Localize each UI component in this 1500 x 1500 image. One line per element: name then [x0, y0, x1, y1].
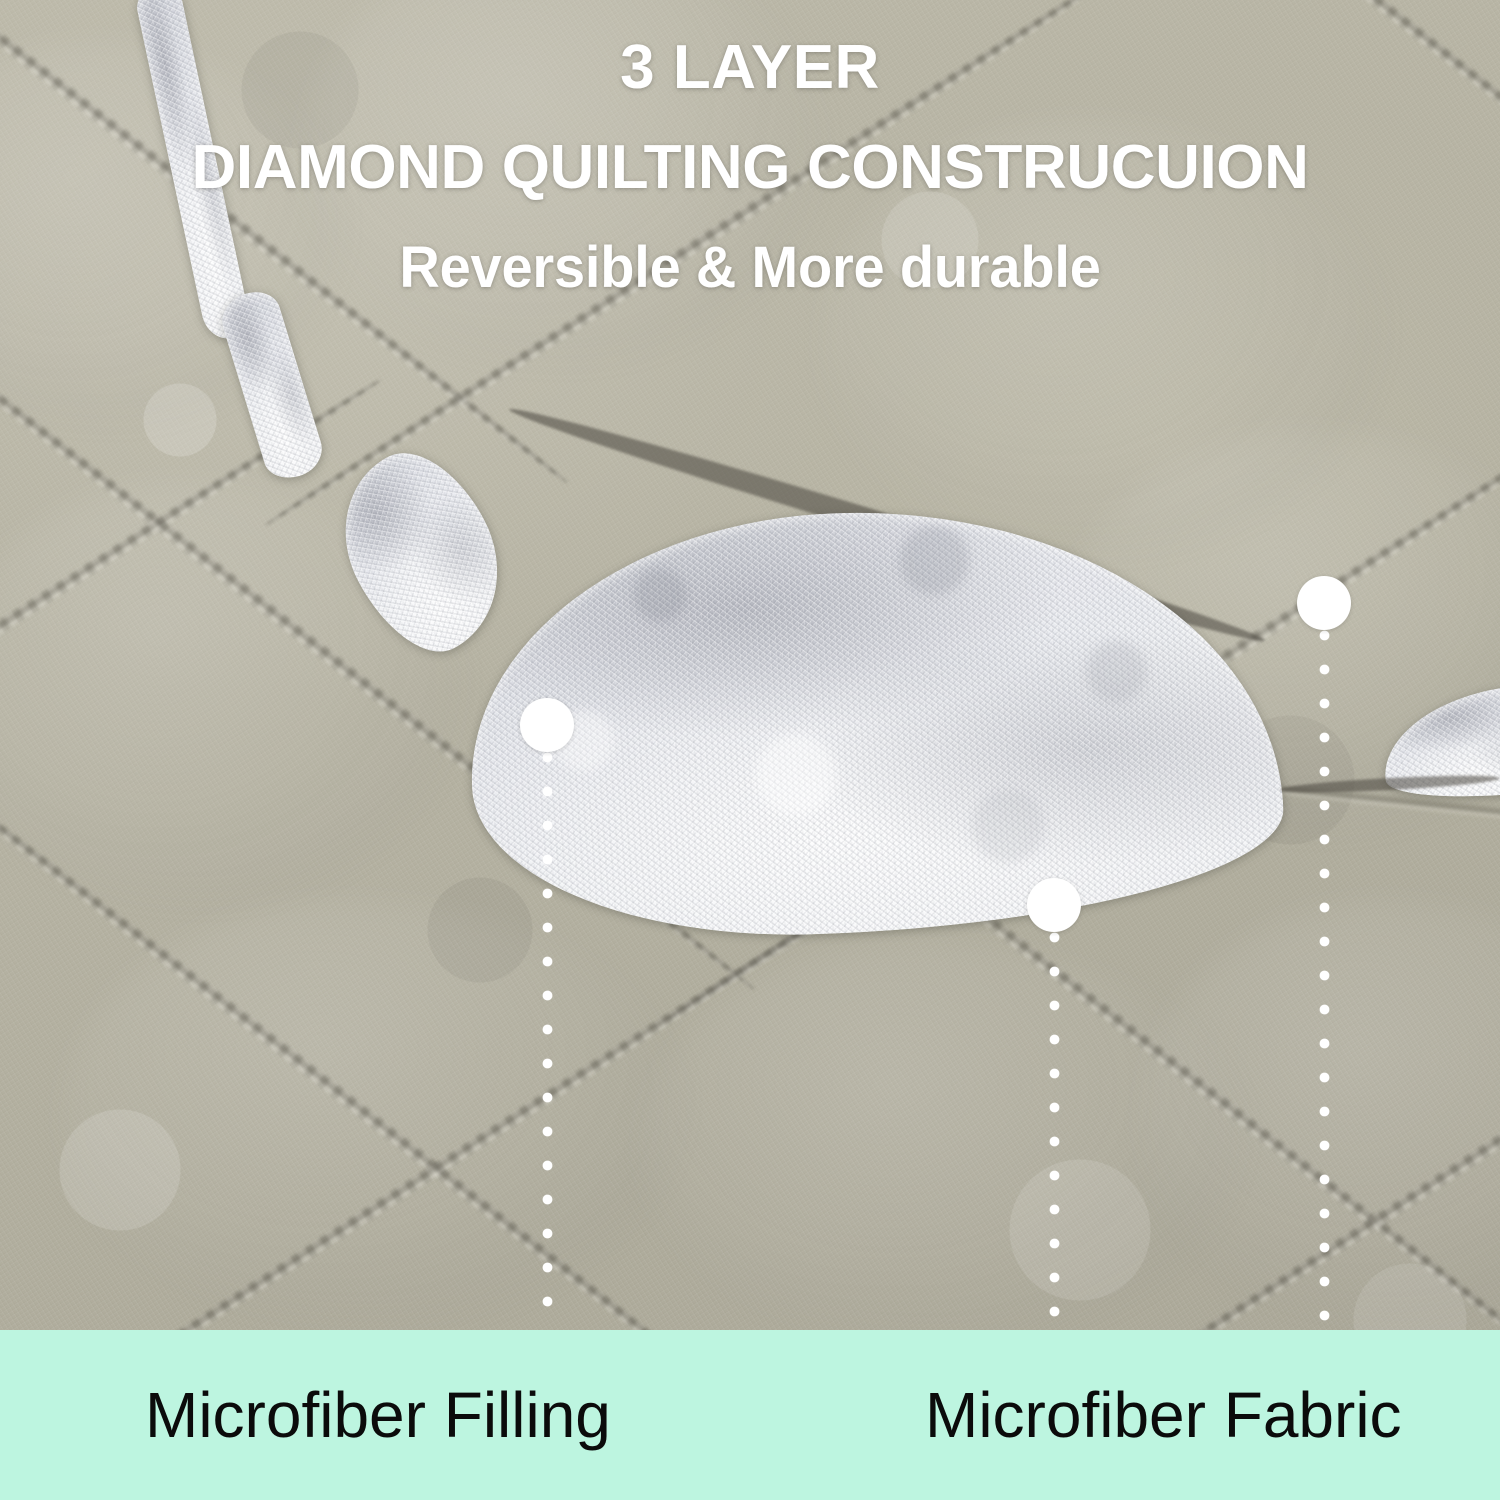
leader-line-microfiber-fabric-outer [1319, 630, 1330, 1332]
headline-line-2: DIAMOND QUILTING CONSTRUCUION [0, 132, 1500, 203]
leader-line-microfiber-filling [542, 752, 553, 1332]
leader-line-microfiber-fabric-inner [1049, 932, 1060, 1332]
callout-dot-microfiber-fabric-inner[interactable] [1027, 878, 1081, 932]
headline-line-1: 3 LAYER [0, 32, 1500, 103]
footer-label-microfiber-filling: Microfiber Filling [145, 1378, 611, 1452]
headline-line-3: Reversible & More durable [26, 234, 1474, 301]
callout-dot-microfiber-fabric-outer[interactable] [1297, 576, 1351, 630]
callout-dot-microfiber-filling[interactable] [520, 698, 574, 752]
footer-label-microfiber-fabric: Microfiber Fabric [925, 1378, 1402, 1452]
product-infographic: 3 LAYER DIAMOND QUILTING CONSTRUCUION Re… [0, 0, 1500, 1500]
footer-legend-band: Microfiber Filling Microfiber Fabric [0, 1330, 1500, 1500]
